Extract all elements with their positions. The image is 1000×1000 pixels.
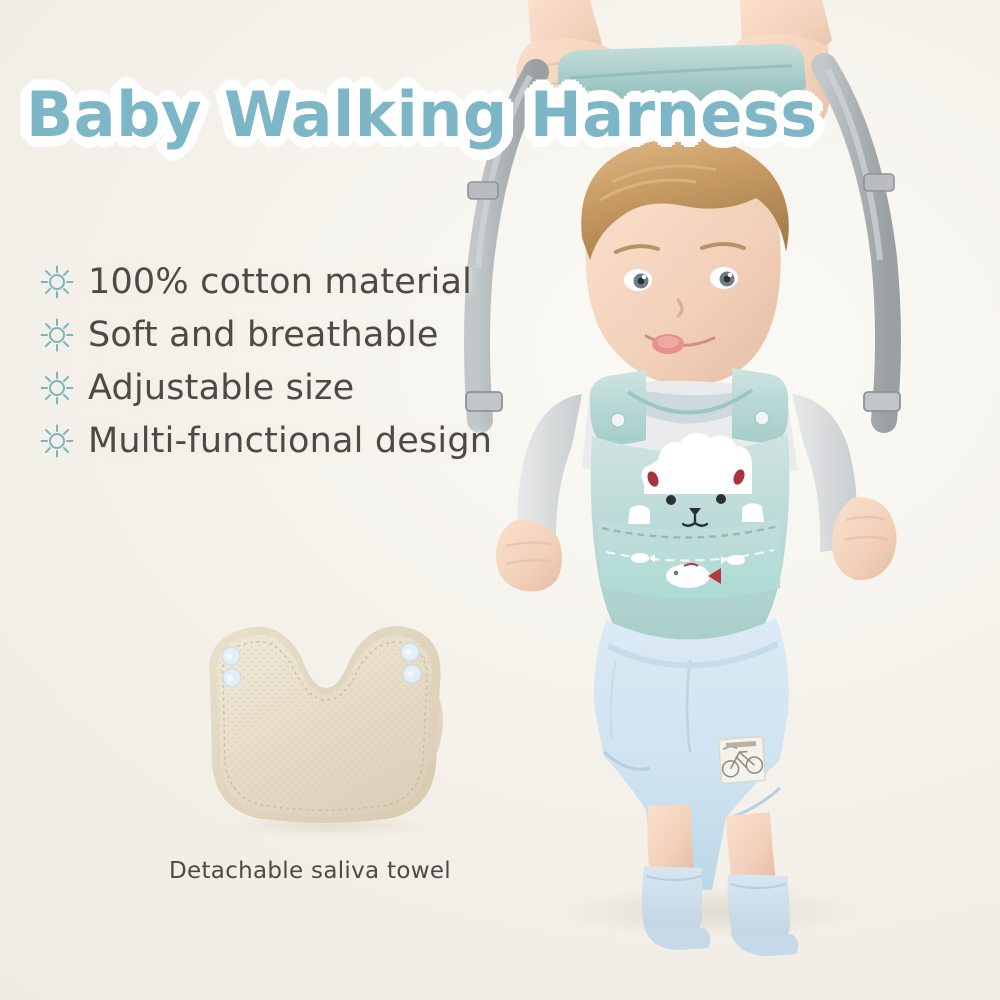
feature-item: Multi-functional design: [40, 421, 492, 461]
sun-burst-icon: [40, 371, 74, 405]
page-title: Baby Walking Harness: [26, 78, 818, 151]
feature-label: 100% cotton material: [88, 262, 472, 302]
feature-label: Soft and breathable: [88, 315, 439, 355]
sun-burst-icon: [40, 318, 74, 352]
page-title-wrap: Baby Walking Harness: [26, 78, 818, 151]
sun-burst-icon: [40, 424, 74, 458]
feature-item: Soft and breathable: [40, 315, 492, 355]
feature-label: Multi-functional design: [88, 421, 492, 461]
sun-burst-icon: [40, 265, 74, 299]
saliva-towel-image: [186, 612, 462, 838]
feature-item: Adjustable size: [40, 368, 492, 408]
feature-list: 100% cotton material Soft and breathable…: [40, 262, 492, 461]
feature-item: 100% cotton material: [40, 262, 492, 302]
feature-label: Adjustable size: [88, 368, 354, 408]
saliva-towel-caption: Detachable saliva towel: [0, 858, 620, 884]
product-marketing-image: Baby Walking Harness 100% cotton materia…: [0, 0, 1000, 1000]
